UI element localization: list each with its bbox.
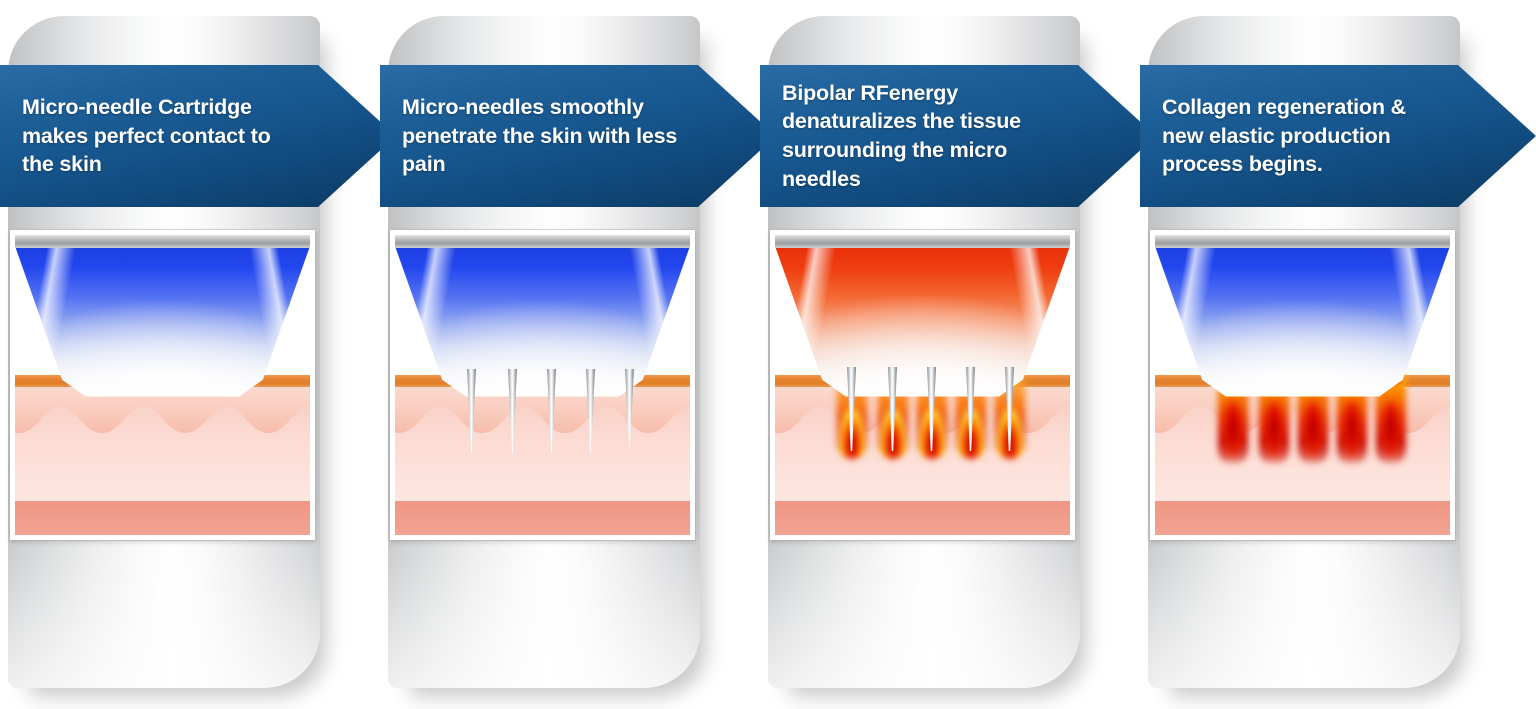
step-banner-label-4: Collagen regeneration & new elastic prod… [1140, 93, 1470, 179]
skin-cross-section-2 [395, 235, 690, 535]
micro-needle-icon [467, 369, 476, 453]
process-diagram: Micro-needle Cartridge makes perfect con… [0, 0, 1536, 709]
skin-cross-section-3 [775, 235, 1070, 535]
micro-needle-icon [847, 367, 856, 451]
step-banner-4[interactable]: Collagen regeneration & new elastic prod… [1140, 65, 1536, 207]
skin-cross-section-1 [15, 235, 310, 535]
step-banner-1[interactable]: Micro-needle Cartridge makes perfect con… [0, 65, 396, 207]
skin-layers-1 [15, 375, 310, 535]
illustration-frame-3 [770, 230, 1075, 540]
micro-needle-icon [625, 369, 634, 447]
skin-cross-section-4 [1155, 235, 1450, 535]
illustration-frame-1 [10, 230, 315, 540]
micro-needles-group-2 [395, 235, 690, 535]
step-banner-label-3: Bipolar RFenergy denaturalizes the tissu… [760, 79, 1090, 193]
micro-needle-icon [966, 367, 975, 451]
process-step-1[interactable]: Micro-needle Cartridge makes perfect con… [0, 8, 330, 698]
process-step-4[interactable]: Collagen regeneration & new elastic prod… [1140, 8, 1470, 698]
micro-needle-icon [1005, 367, 1014, 451]
illustration-frame-4 [1150, 230, 1455, 540]
process-step-2[interactable]: Micro-needles smoothly penetrate the ski… [380, 8, 710, 698]
cartridge-bar-icon [395, 235, 690, 248]
micro-needle-icon [508, 369, 517, 453]
step-banner-label-2: Micro-needles smoothly penetrate the ski… [380, 93, 710, 179]
step-banner-label-1: Micro-needle Cartridge makes perfect con… [0, 93, 330, 179]
micro-needle-icon [888, 367, 897, 451]
cartridge-bar-icon [1155, 235, 1450, 248]
micro-needle-icon [586, 369, 595, 453]
cartridge-bar-icon [15, 235, 310, 248]
step-banner-3[interactable]: Bipolar RFenergy denaturalizes the tissu… [760, 65, 1156, 207]
micro-needles-group-3 [775, 235, 1070, 535]
process-step-3[interactable]: Bipolar RFenergy denaturalizes the tissu… [760, 8, 1090, 698]
micro-needle-icon [547, 369, 556, 453]
step-banner-2[interactable]: Micro-needles smoothly penetrate the ski… [380, 65, 776, 207]
cartridge-bar-icon [775, 235, 1070, 248]
illustration-frame-2 [390, 230, 695, 540]
micro-needle-icon [927, 367, 936, 451]
